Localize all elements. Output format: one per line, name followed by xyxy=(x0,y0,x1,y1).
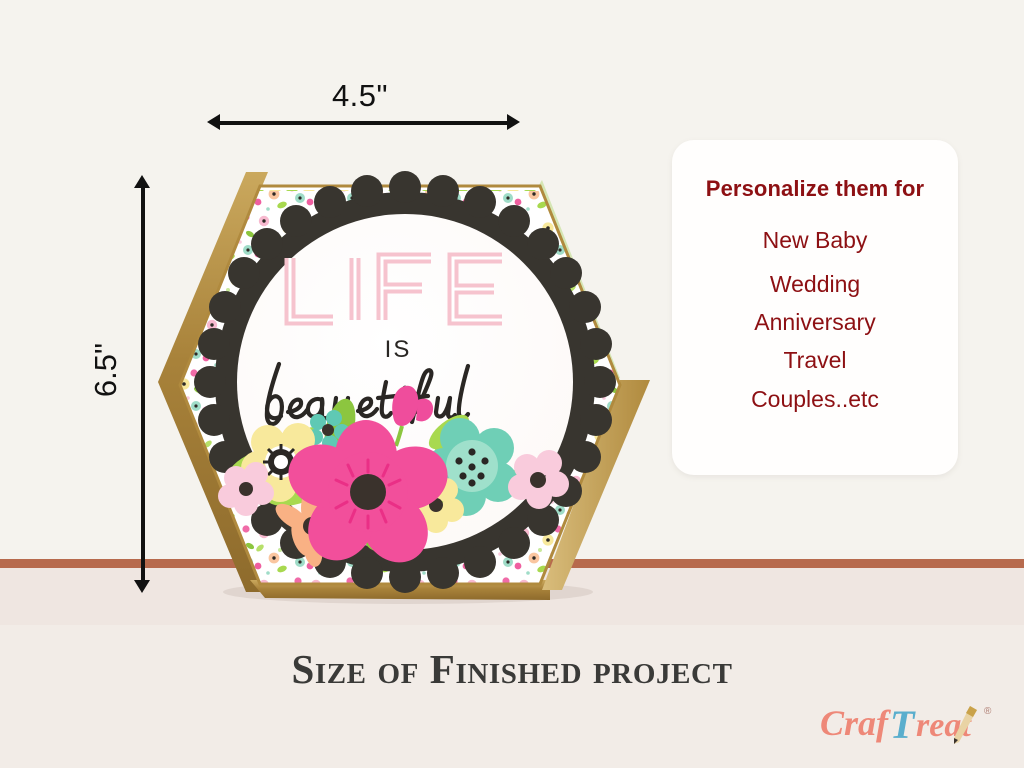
arrow-shaft xyxy=(141,183,145,585)
page-caption: Size of Finished project xyxy=(0,645,1024,693)
arrow-shaft xyxy=(215,121,512,125)
info-item-wedding: Wedding xyxy=(770,272,860,296)
width-dimension-label: 4.5" xyxy=(300,78,420,114)
arrow-head-right xyxy=(507,114,520,130)
info-item-new-baby: New Baby xyxy=(763,228,868,252)
height-dimension-label: 6.5" xyxy=(88,310,124,430)
arrow-head-bottom xyxy=(134,580,150,593)
hexagon-box-illustration: IS xyxy=(150,160,660,610)
info-item-travel: Travel xyxy=(783,348,846,372)
hexagon-gift-box: IS xyxy=(150,160,660,610)
craftreat-logo: Craf T reat ® xyxy=(818,698,998,750)
height-dimension-arrow xyxy=(139,175,145,593)
info-card-title: Personalize them for xyxy=(706,176,924,202)
info-item-couples: Couples..etc xyxy=(751,387,879,411)
craftreat-logo-mark: Craf T reat ® xyxy=(818,698,998,750)
product-image-canvas: 4.5" 6.5" xyxy=(0,0,1024,768)
emblem-word-is: IS xyxy=(385,336,412,363)
logo-text-t: T xyxy=(890,702,916,747)
logo-trademark: ® xyxy=(984,706,992,717)
width-dimension-arrow xyxy=(207,119,520,125)
personalize-info-card: Personalize them for New Baby Wedding An… xyxy=(672,140,958,475)
logo-text-craf: Craf xyxy=(820,703,891,743)
info-item-anniversary: Anniversary xyxy=(754,310,875,334)
